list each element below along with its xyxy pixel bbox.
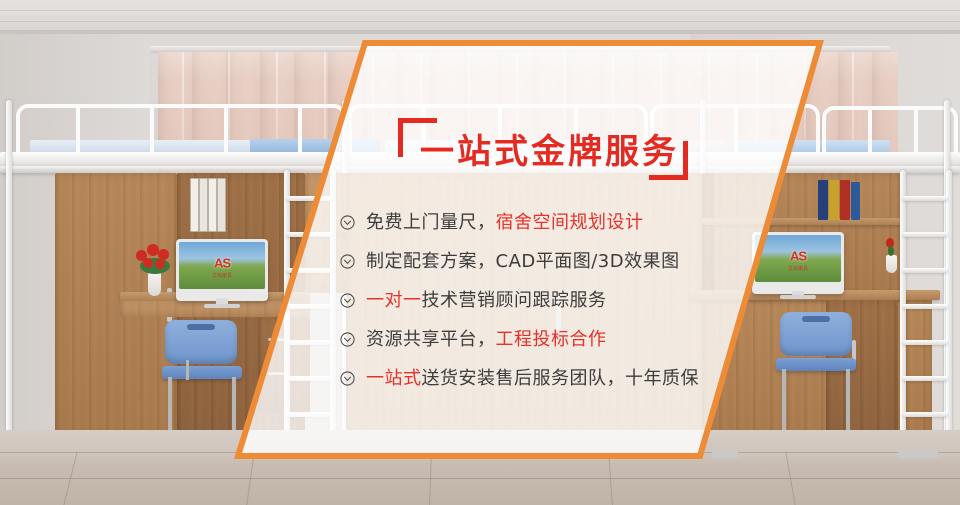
chevron-down-circle-icon [340, 293, 355, 308]
list-item-text: 免费上门量尺，宿舍空间规划设计 [366, 208, 644, 234]
banner-content: 一站式金牌服务 免费上门量尺，宿舍空间规划设计 制定配套方案，CAD平面图/3D… [0, 0, 960, 505]
banner-stage: AS 艾尚家具 AS 艾尚家具 [0, 0, 960, 505]
chevron-down-circle-icon [340, 332, 355, 347]
list-item: 制定配套方案，CAD平面图/3D效果图 [340, 243, 760, 277]
title-block: 一站式金牌服务 [398, 118, 688, 180]
page-title: 一站式金牌服务 [420, 124, 679, 173]
list-item: 一站式送货安装售后服务团队，十年质保 [340, 360, 760, 394]
service-list: 免费上门量尺，宿舍空间规划设计 制定配套方案，CAD平面图/3D效果图 一对一技… [340, 204, 760, 399]
text-plain-before: 资源共享平台， [366, 329, 496, 350]
list-item-text: 一站式送货安装售后服务团队，十年质保 [366, 364, 699, 390]
list-item: 一对一技术营销顾问跟踪服务 [340, 282, 760, 316]
list-item-text: 资源共享平台，工程投标合作 [366, 325, 607, 351]
text-highlight: 一站式 [366, 368, 422, 389]
list-item-text: 制定配套方案，CAD平面图/3D效果图 [366, 247, 680, 273]
chevron-down-circle-icon [340, 215, 355, 230]
text-plain-after: 送货安装售后服务团队，十年质保 [422, 368, 700, 389]
text-plain-after: 技术营销顾问跟踪服务 [422, 290, 607, 311]
list-item: 免费上门量尺，宿舍空间规划设计 [340, 204, 760, 238]
text-highlight: 工程投标合作 [496, 329, 607, 350]
chevron-down-circle-icon [340, 254, 355, 269]
text-plain-before: 免费上门量尺， [366, 212, 496, 233]
list-item: 资源共享平台，工程投标合作 [340, 321, 760, 355]
text-highlight: 一对一 [366, 290, 422, 311]
text-highlight: 宿舍空间规划设计 [496, 212, 644, 233]
chevron-down-circle-icon [340, 371, 355, 386]
list-item-text: 一对一技术营销顾问跟踪服务 [366, 286, 607, 312]
text-plain-before: 制定配套方案，CAD平面图/3D效果图 [366, 251, 680, 272]
